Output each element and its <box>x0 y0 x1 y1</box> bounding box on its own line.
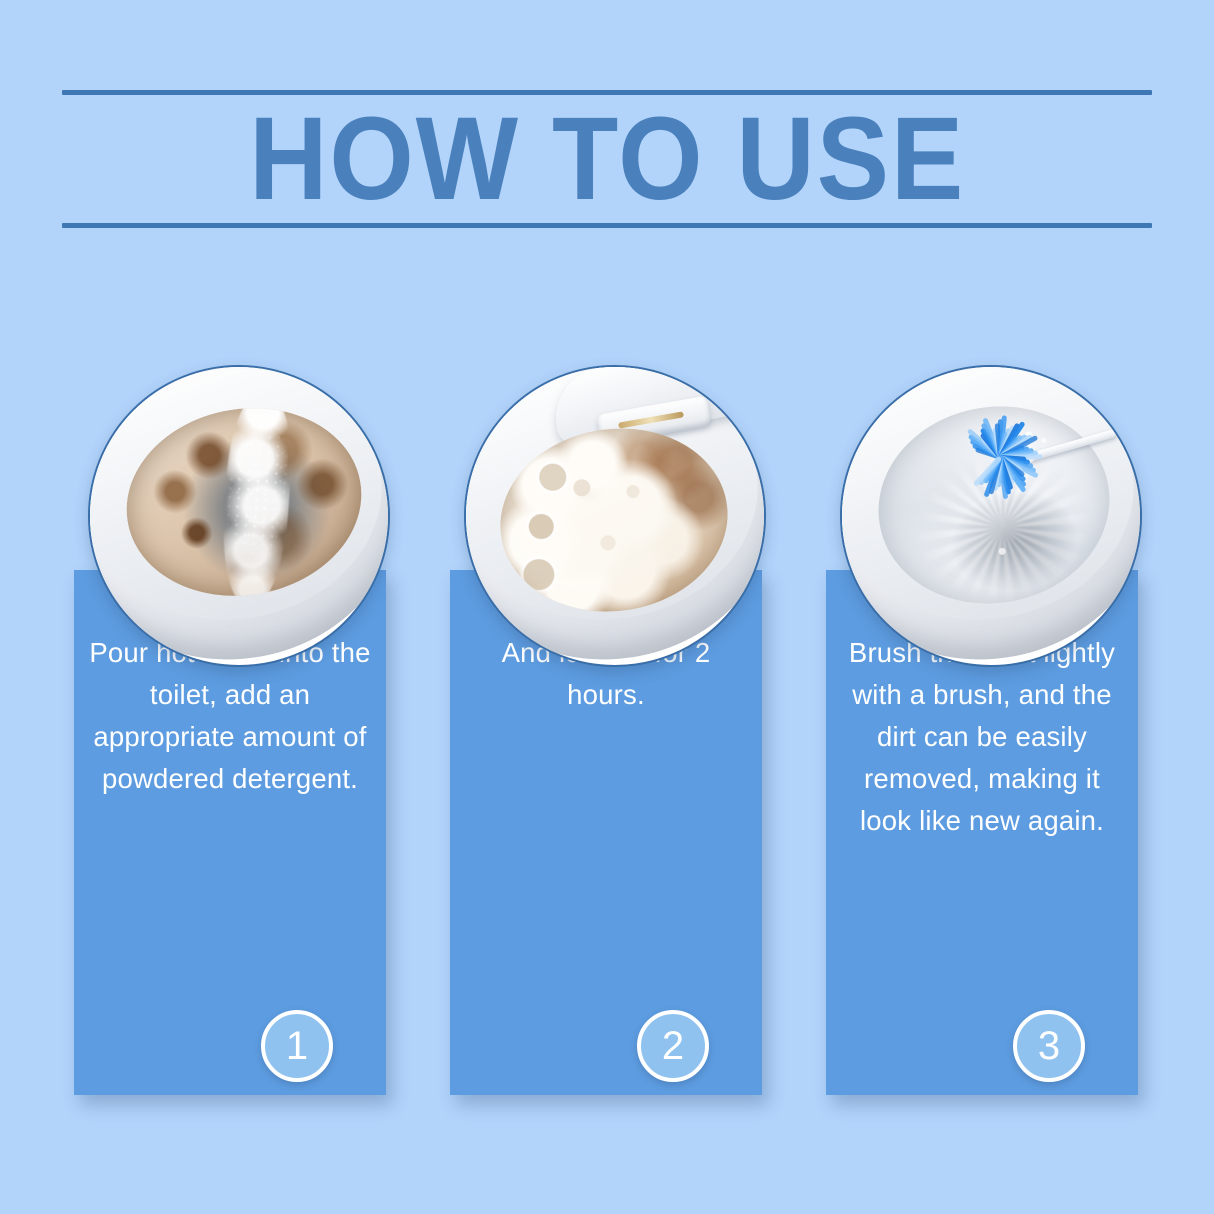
step-3-photo <box>840 365 1142 667</box>
toilet-bowl-clean-image <box>842 367 1140 665</box>
page-title: HOW TO USE <box>249 100 965 218</box>
step-number-badge-2: 2 <box>637 1010 709 1082</box>
foam-bubbles <box>488 414 739 626</box>
infographic-page: HOW TO USE Pour hot water into the toile… <box>0 0 1214 1214</box>
step-1-photo <box>88 365 390 667</box>
header: HOW TO USE <box>62 90 1152 228</box>
toilet-bowl-foam-image <box>466 367 764 665</box>
toilet-bowl-interior <box>488 414 739 626</box>
powder-detergent <box>218 394 296 608</box>
powder-grains <box>218 394 296 608</box>
step-2-photo <box>464 365 766 667</box>
step-number-badge-3: 3 <box>1013 1010 1085 1082</box>
page-title-wrap: HOW TO USE <box>62 95 1152 223</box>
step-number-badge-1: 1 <box>261 1010 333 1082</box>
steps-container: Pour hot water into the toilet, add an a… <box>74 365 1140 1095</box>
toilet-bowl-dirty-image <box>90 367 388 665</box>
